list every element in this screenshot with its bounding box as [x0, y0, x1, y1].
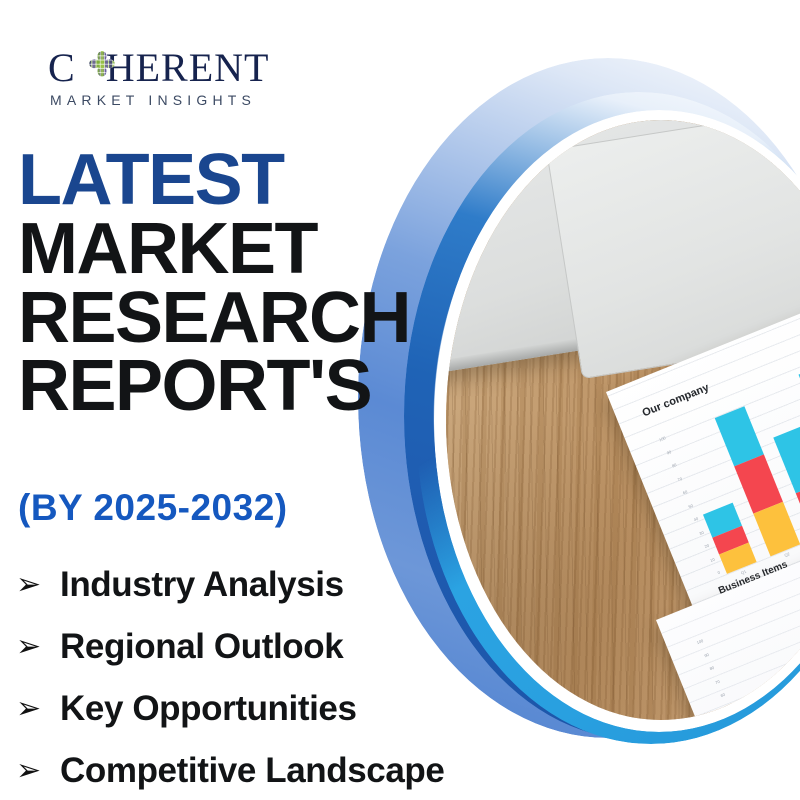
y-tick: 100 — [658, 435, 666, 442]
headline-block: LATEST MARKET RESEARCH REPORT'S — [18, 148, 418, 423]
arrow-bullet-icon: ➢ — [14, 756, 60, 786]
bullet-label-1: Industry Analysis — [60, 565, 344, 605]
arrow-bullet-icon: ➢ — [14, 694, 60, 724]
year-range-label: (BY 2025-2032) — [18, 487, 288, 529]
headline-line-1: LATEST — [18, 148, 418, 213]
list-item: ➢ Competitive Landscape — [14, 740, 534, 800]
brand-wordmark-post: HERENT — [106, 45, 270, 90]
bar-segment — [773, 425, 800, 493]
brand-tagline: MARKET INSIGHTS — [50, 92, 256, 108]
brand-wordmark-pre: C — [48, 45, 76, 90]
globe-grid-icon — [86, 50, 118, 82]
arrow-bullet-icon: ➢ — [14, 632, 60, 662]
list-item: ➢ Regional Outlook — [14, 616, 534, 678]
headline-line-3: RESEARCH — [18, 286, 418, 351]
headline-line-4: REPORT'S — [18, 354, 418, 419]
bullet-label-3: Key Opportunities — [60, 689, 357, 729]
list-item: ➢ Key Opportunities — [14, 678, 534, 740]
bullet-label-2: Regional Outlook — [60, 627, 343, 667]
brand-wordmark: CHERENT — [48, 44, 269, 91]
list-item: ➢ Industry Analysis — [14, 554, 534, 616]
headline-line-2: MARKET — [18, 217, 418, 282]
brand-logo[interactable]: CHERENT — [48, 44, 348, 114]
marketing-banner: V B N ⌘ command option ⌘ command — [0, 0, 800, 800]
arrow-bullet-icon: ➢ — [14, 570, 60, 600]
y-tick: 100 — [696, 638, 704, 645]
feature-bullet-list: ➢ Industry Analysis ➢ Regional Outlook ➢… — [14, 554, 534, 800]
bullet-label-4: Competitive Landscape — [60, 751, 444, 791]
